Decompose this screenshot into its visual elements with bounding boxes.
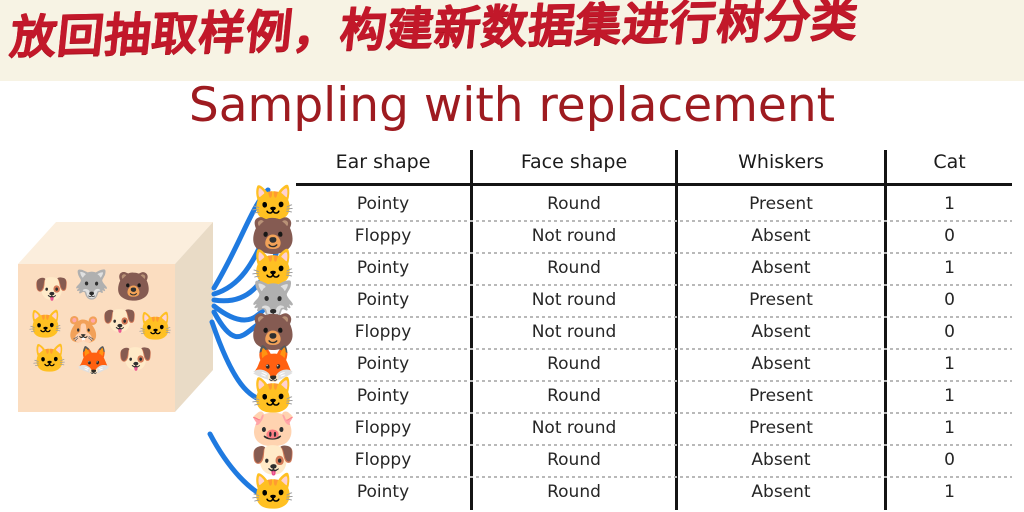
cell-face: Round bbox=[473, 252, 675, 284]
cell-face: Not round bbox=[473, 284, 675, 316]
box-front-face: 🐶🐺🐻🐱🐹🐶🐱🐱🦊🐶 bbox=[18, 264, 175, 412]
cell-face: Not round bbox=[473, 220, 675, 252]
sampled-dataset-table: Ear shapeFace shapeWhiskersCat PointyRou… bbox=[296, 146, 1012, 510]
table-row: FloppyRoundAbsent0 bbox=[296, 444, 1012, 476]
cell-cat: 1 bbox=[887, 348, 1012, 380]
cell-whiskers: Absent bbox=[678, 252, 884, 284]
table-row: PointyRoundAbsent1 bbox=[296, 476, 1012, 508]
cell-whiskers: Absent bbox=[678, 316, 884, 348]
bear-face-pink: 🐹 bbox=[66, 314, 100, 344]
cell-cat: 1 bbox=[887, 252, 1012, 284]
cell-ear: Floppy bbox=[296, 412, 470, 444]
cell-face: Not round bbox=[473, 316, 675, 348]
cell-face: Round bbox=[473, 444, 675, 476]
cell-face: Round bbox=[473, 380, 675, 412]
cell-whiskers: Present bbox=[678, 412, 884, 444]
cat-face-orange: 🐱 bbox=[138, 312, 172, 342]
cell-ear: Pointy bbox=[296, 380, 470, 412]
sampled-animal-column: 🐱🐻🐱🐺🐻🦊🐱🐷🐶🐱 bbox=[248, 172, 298, 510]
bear-face-tan: 🐻 bbox=[116, 272, 150, 302]
cell-whiskers: Present bbox=[678, 188, 884, 220]
cell-cat: 0 bbox=[887, 284, 1012, 316]
table-row: FloppyNot roundAbsent0 bbox=[296, 316, 1012, 348]
cat-face-gray: 🐱 bbox=[28, 310, 62, 340]
table-header-row: Ear shapeFace shapeWhiskersCat bbox=[296, 146, 1012, 184]
cell-cat: 1 bbox=[887, 188, 1012, 220]
dog-face-gray: 🐶 bbox=[102, 306, 136, 336]
wolf-face-gray: 🐺 bbox=[74, 270, 108, 300]
column-header-ear-shape: Ear shape bbox=[296, 146, 470, 184]
column-header-face-shape: Face shape bbox=[473, 146, 675, 184]
cell-whiskers: Present bbox=[678, 380, 884, 412]
table-row: FloppyNot roundPresent1 bbox=[296, 412, 1012, 444]
cell-ear: Pointy bbox=[296, 476, 470, 508]
page-title: Sampling with replacement bbox=[0, 78, 1024, 133]
annotation-banner: 放回抽取样例，构建新数据集进行树分类 bbox=[0, 0, 1024, 81]
cell-ear: Floppy bbox=[296, 220, 470, 252]
dog-face-tan: 🐶 bbox=[34, 274, 68, 304]
table-row: PointyRoundAbsent1 bbox=[296, 252, 1012, 284]
dog-face-brown: 🐶 bbox=[118, 344, 152, 374]
column-header-cat: Cat bbox=[887, 146, 1012, 184]
cell-cat: 1 bbox=[887, 412, 1012, 444]
cell-cat: 0 bbox=[887, 220, 1012, 252]
cell-whiskers: Absent bbox=[678, 220, 884, 252]
fox-face-orange: 🦊 bbox=[76, 346, 110, 376]
cat-face-white: 🐱 bbox=[32, 344, 66, 374]
table-row: PointyNot roundPresent0 bbox=[296, 284, 1012, 316]
cell-cat: 1 bbox=[887, 380, 1012, 412]
cell-face: Round bbox=[473, 476, 675, 508]
cell-face: Round bbox=[473, 348, 675, 380]
cell-ear: Pointy bbox=[296, 284, 470, 316]
table-row: PointyRoundAbsent1 bbox=[296, 348, 1012, 380]
cell-whiskers: Present bbox=[678, 284, 884, 316]
cell-cat: 0 bbox=[887, 444, 1012, 476]
cell-ear: Floppy bbox=[296, 316, 470, 348]
cell-face: Not round bbox=[473, 412, 675, 444]
cell-cat: 1 bbox=[887, 476, 1012, 508]
cell-face: Round bbox=[473, 188, 675, 220]
table-row: PointyRoundPresent1 bbox=[296, 380, 1012, 412]
cell-ear: Pointy bbox=[296, 252, 470, 284]
table-row: PointyRoundPresent1 bbox=[296, 188, 1012, 220]
table-row: FloppyNot roundAbsent0 bbox=[296, 220, 1012, 252]
cell-ear: Pointy bbox=[296, 348, 470, 380]
cell-whiskers: Absent bbox=[678, 444, 884, 476]
cell-cat: 0 bbox=[887, 316, 1012, 348]
cell-whiskers: Absent bbox=[678, 348, 884, 380]
row-animal-cat-face-orange: 🐱 bbox=[248, 472, 298, 512]
cell-ear: Floppy bbox=[296, 444, 470, 476]
table-header-rule bbox=[296, 183, 1012, 186]
handwritten-annotation: 放回抽取样例，构建新数据集进行树分类 bbox=[7, 0, 866, 70]
cell-ear: Pointy bbox=[296, 188, 470, 220]
column-header-whiskers: Whiskers bbox=[678, 146, 884, 184]
cell-whiskers: Absent bbox=[678, 476, 884, 508]
sample-box: 🐶🐺🐻🐱🐹🐶🐱🐱🦊🐶 bbox=[18, 222, 238, 452]
